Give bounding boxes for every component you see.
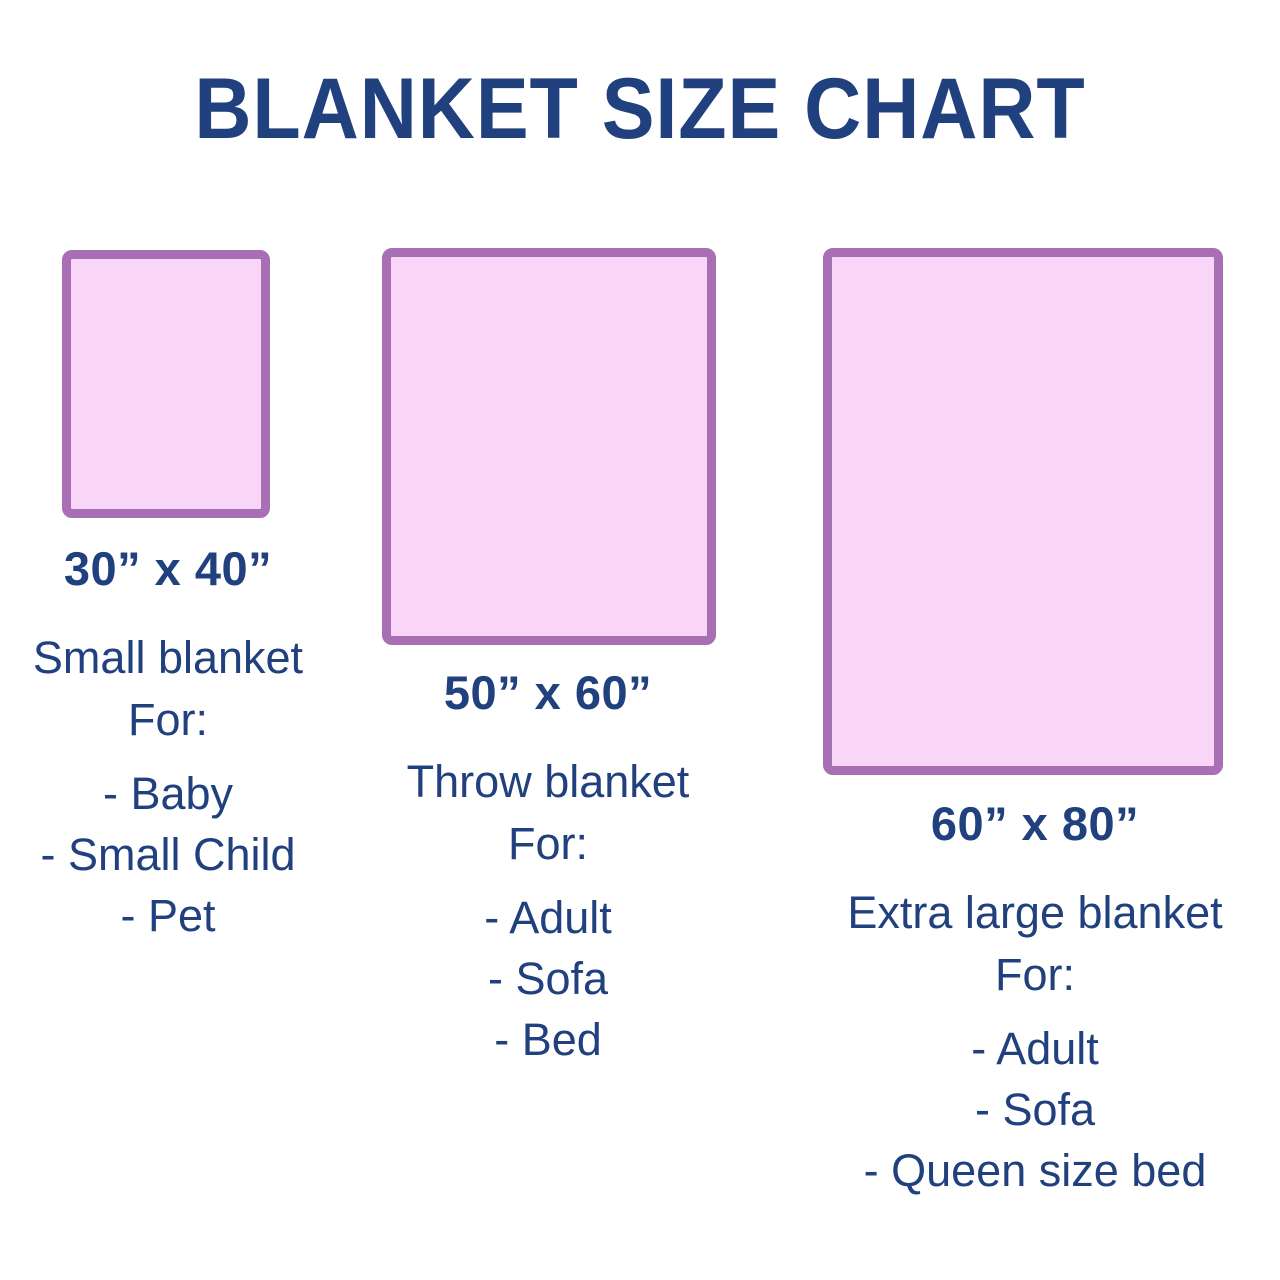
list-item: - Sofa	[790, 1079, 1280, 1140]
blanket-swatch-small	[62, 250, 270, 518]
page-title: BLANKET SIZE CHART	[51, 62, 1229, 156]
for-label-throw: For:	[368, 813, 728, 875]
dimension-label-xlarge: 60” x 80”	[790, 793, 1280, 855]
use-list-throw: - Adult - Sofa - Bed	[368, 887, 728, 1070]
type-label-small: Small blanket	[0, 627, 336, 689]
blanket-swatch-xlarge	[823, 248, 1223, 775]
dimension-label-throw: 50” x 60”	[368, 662, 728, 724]
list-item: - Small Child	[0, 824, 336, 885]
use-list-small: - Baby - Small Child - Pet	[0, 763, 336, 946]
list-item: - Adult	[368, 887, 728, 948]
list-item: - Queen size bed	[790, 1140, 1280, 1201]
type-label-throw: Throw blanket	[368, 751, 728, 813]
list-item: - Adult	[790, 1018, 1280, 1079]
list-item: - Bed	[368, 1009, 728, 1070]
for-label-xlarge: For:	[790, 944, 1280, 1006]
blanket-swatch-throw	[382, 248, 716, 645]
for-label-small: For:	[0, 689, 336, 751]
size-column-small: 30” x 40” Small blanket For: - Baby - Sm…	[0, 538, 336, 946]
use-list-xlarge: - Adult - Sofa - Queen size bed	[790, 1018, 1280, 1201]
blanket-size-chart: BLANKET SIZE CHART 30” x 40” Small blank…	[0, 0, 1280, 1280]
list-item: - Baby	[0, 763, 336, 824]
type-label-xlarge: Extra large blanket	[790, 882, 1280, 944]
list-item: - Pet	[0, 885, 336, 946]
size-column-throw: 50” x 60” Throw blanket For: - Adult - S…	[368, 662, 728, 1070]
dimension-label-small: 30” x 40”	[0, 538, 336, 600]
list-item: - Sofa	[368, 948, 728, 1009]
size-column-xlarge: 60” x 80” Extra large blanket For: - Adu…	[790, 793, 1280, 1201]
